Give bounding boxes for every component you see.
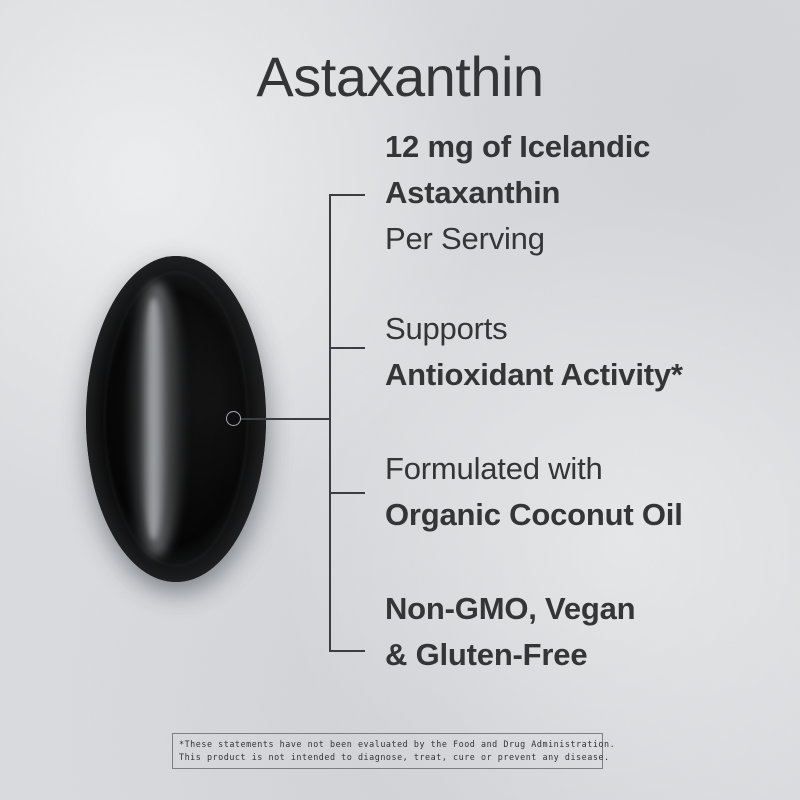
- bracket-tick-2: [329, 347, 365, 349]
- feature-line: 12 mg of Icelandic: [385, 124, 785, 170]
- bracket-spine: [329, 194, 331, 652]
- bracket-tick-4: [329, 650, 365, 652]
- feature-item-coconut-oil: Formulated with Organic Coconut Oil: [385, 446, 785, 538]
- feature-line: Astaxanthin: [385, 170, 785, 216]
- feature-item-antioxidant: Supports Antioxidant Activity*: [385, 306, 785, 398]
- feature-line: & Gluten-Free: [385, 632, 785, 678]
- fda-disclaimer-box: *These statements have not been evaluate…: [172, 733, 603, 769]
- feature-list: 12 mg of Icelandic Astaxanthin Per Servi…: [385, 124, 785, 678]
- feature-line: Antioxidant Activity*: [385, 352, 785, 398]
- bracket-tick-3: [329, 492, 365, 494]
- feature-line: Per Serving: [385, 216, 785, 262]
- feature-line: Non-GMO, Vegan: [385, 586, 785, 632]
- feature-line: Formulated with: [385, 446, 785, 492]
- feature-item-certifications: Non-GMO, Vegan & Gluten-Free: [385, 586, 785, 678]
- softgel-capsule-image: [60, 235, 295, 605]
- callout-bracket: [329, 194, 369, 652]
- disclaimer-line-2: This product is not intended to diagnose…: [179, 751, 596, 764]
- disclaimer-line-1: *These statements have not been evaluate…: [179, 738, 596, 751]
- bracket-tick-1: [329, 194, 365, 196]
- feature-line: Supports: [385, 306, 785, 352]
- callout-marker-icon: [226, 411, 241, 426]
- feature-line: Organic Coconut Oil: [385, 492, 785, 538]
- callout-leader-line: [241, 418, 331, 420]
- feature-item-dosage: 12 mg of Icelandic Astaxanthin Per Servi…: [385, 124, 785, 262]
- page-title: Astaxanthin: [0, 44, 800, 109]
